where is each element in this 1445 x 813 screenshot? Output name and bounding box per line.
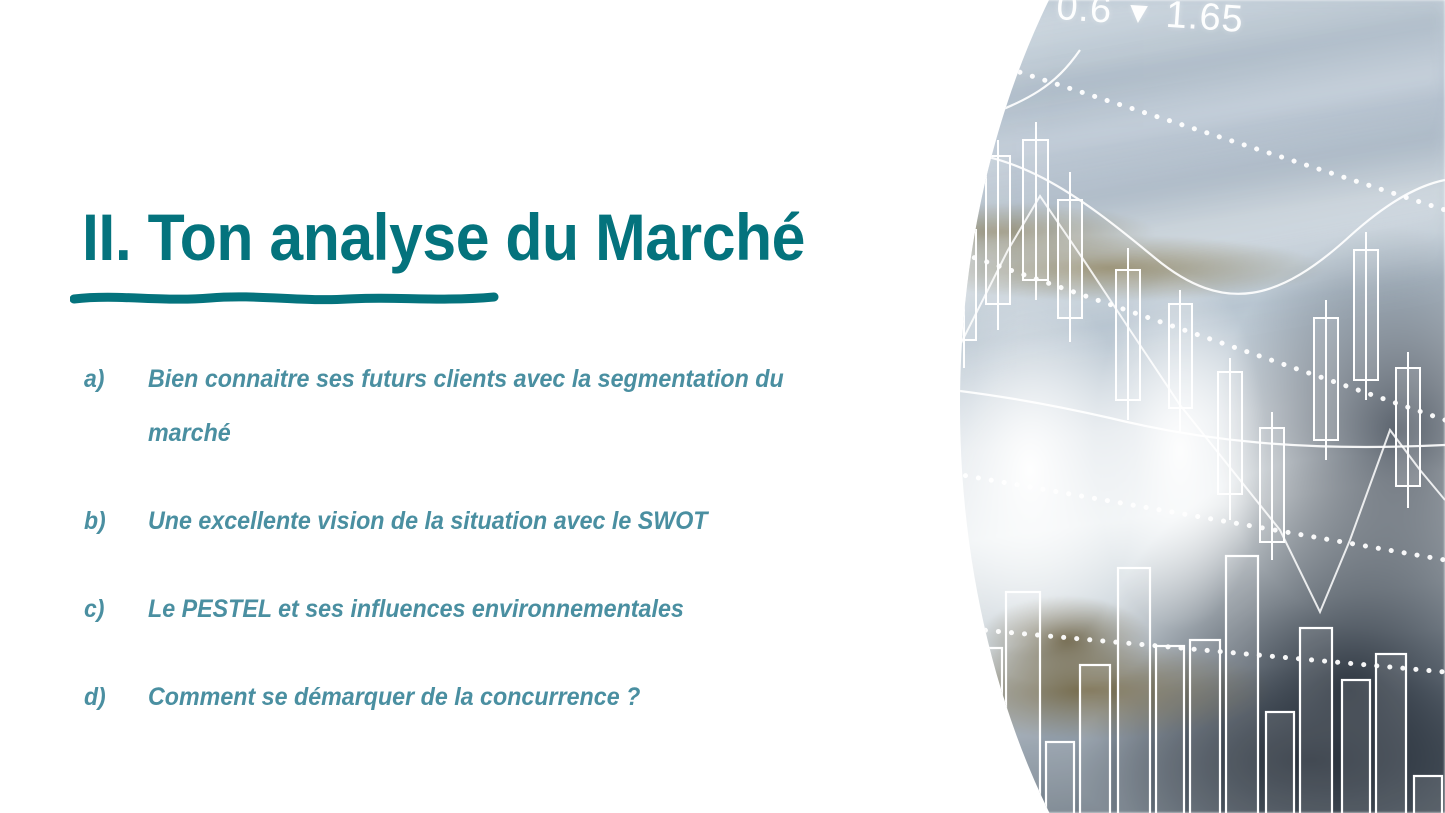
- list-item: a) Bien connaitre ses futurs clients ave…: [84, 352, 884, 460]
- presentation-slide: 0.6 ▼ 1.65 II. Ton analyse du Marché a) …: [0, 0, 1445, 813]
- list-item-label: Le PESTEL et ses influences environnemen…: [148, 582, 832, 636]
- list-item: c) Le PESTEL et ses influences environne…: [84, 582, 884, 636]
- list-item-label: Bien connaitre ses futurs clients avec l…: [148, 352, 832, 460]
- page-title: II. Ton analyse du Marché: [82, 203, 805, 272]
- triangle-down-icon: ▼: [1123, 0, 1156, 31]
- list-item: d) Comment se démarquer de la concurrenc…: [84, 670, 884, 724]
- list-item-marker: d): [84, 670, 143, 724]
- list-item-marker: b): [84, 494, 143, 548]
- ticker-first-value: 0.6: [1055, 0, 1114, 32]
- list-item-label: Comment se démarquer de la concurrence ?: [148, 670, 832, 724]
- title-underline: [70, 283, 500, 309]
- slide-content: II. Ton analyse du Marché a) Bien connai…: [0, 0, 880, 813]
- list-item: b) Une excellente vision de la situation…: [84, 494, 884, 548]
- ticker-second-value: 1.65: [1164, 0, 1245, 41]
- photo-left-fade: [880, 0, 1445, 813]
- bullet-list: a) Bien connaitre ses futurs clients ave…: [84, 352, 884, 724]
- list-item-marker: c): [84, 582, 143, 636]
- market-photo-panel: 0.6 ▼ 1.65: [880, 0, 1445, 813]
- list-item-label: Une excellente vision de la situation av…: [148, 494, 832, 548]
- list-item-marker: a): [84, 352, 143, 406]
